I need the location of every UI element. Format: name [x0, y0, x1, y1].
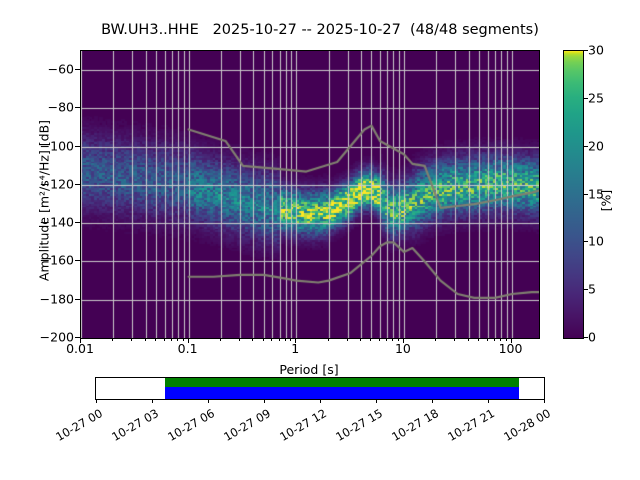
ppsd-figure: BW.UH3..HHE 2025-10-27 -- 2025-10-27 (48… — [0, 0, 640, 480]
figure-title: BW.UH3..HHE 2025-10-27 -- 2025-10-27 (48… — [0, 22, 640, 38]
x-minor-tick-mark — [392, 338, 393, 341]
ppsd-density-canvas — [81, 51, 539, 338]
colorbar-label: [%] — [599, 171, 614, 231]
colorbar-tick-label: 0 — [588, 330, 596, 345]
x-minor-tick-mark — [328, 338, 329, 341]
x-minor-tick-mark — [487, 338, 488, 341]
x-tick-label: 10 — [395, 341, 411, 356]
x-minor-tick-mark — [263, 338, 264, 341]
x-minor-tick-mark — [220, 338, 221, 341]
timeline-tick-label: 10-27 03 — [104, 406, 161, 447]
x-tick-label: 1 — [291, 341, 299, 356]
timeline-tick-mark — [376, 399, 377, 403]
x-minor-tick-mark — [252, 338, 253, 341]
timeline-tick-label: 10-27 00 — [48, 406, 105, 447]
y-tick-mark — [75, 69, 80, 70]
x-minor-tick-mark — [164, 338, 165, 341]
x-minor-tick-mark — [478, 338, 479, 341]
timeline-tick-mark — [208, 399, 209, 403]
x-minor-tick-mark — [290, 338, 291, 341]
ppsd-plot-area[interactable] — [80, 50, 540, 339]
timeline-tick-mark — [96, 399, 97, 403]
colorbar-tick-label: 30 — [588, 43, 604, 58]
x-minor-tick-mark — [500, 338, 501, 341]
colorbar-tick-label: 5 — [588, 282, 596, 297]
data-coverage-timeline[interactable] — [95, 377, 545, 400]
colorbar-tick-label: 25 — [588, 90, 604, 105]
x-minor-tick-mark — [435, 338, 436, 341]
data-coverage-blue[interactable] — [165, 387, 519, 399]
x-minor-tick-mark — [177, 338, 178, 341]
x-tick-label: 0.1 — [178, 341, 198, 356]
x-tick-label: 100 — [499, 341, 523, 356]
timeline-tick-label: 10-27 18 — [384, 406, 441, 447]
data-coverage-green[interactable] — [165, 378, 519, 387]
y-tick-mark — [75, 222, 80, 223]
timeline-tick-label: 10-27 15 — [328, 406, 385, 447]
timeline-tick-label: 10-28 00 — [496, 406, 553, 447]
timeline-tick-mark — [264, 399, 265, 403]
x-minor-tick-mark — [347, 338, 348, 341]
x-axis-label: Period [s] — [80, 362, 538, 377]
timeline-tick-mark — [544, 399, 545, 403]
x-minor-tick-mark — [285, 338, 286, 341]
y-tick-mark — [75, 107, 80, 108]
x-minor-tick-mark — [183, 338, 184, 341]
y-tick-mark — [75, 184, 80, 185]
x-minor-tick-mark — [360, 338, 361, 341]
timeline-tick-label: 10-27 12 — [272, 406, 329, 447]
colorbar[interactable] — [563, 50, 584, 339]
x-minor-tick-mark — [370, 338, 371, 341]
x-minor-tick-mark — [131, 338, 132, 341]
timeline-tick-label: 10-27 06 — [160, 406, 217, 447]
x-minor-tick-mark — [454, 338, 455, 341]
x-tick-label: 0.01 — [66, 341, 94, 356]
x-minor-tick-mark — [386, 338, 387, 341]
x-minor-tick-mark — [506, 338, 507, 341]
timeline-tick-mark — [432, 399, 433, 403]
x-minor-tick-mark — [379, 338, 380, 341]
y-tick-mark — [75, 146, 80, 147]
x-minor-tick-mark — [112, 338, 113, 341]
x-minor-tick-mark — [155, 338, 156, 341]
timeline-tick-mark — [320, 399, 321, 403]
colorbar-tick-label: 20 — [588, 138, 604, 153]
timeline-tick-mark — [152, 399, 153, 403]
colorbar-tick-label: 10 — [588, 234, 604, 249]
x-minor-tick-mark — [239, 338, 240, 341]
timeline-tick-mark — [488, 399, 489, 403]
x-minor-tick-mark — [279, 338, 280, 341]
timeline-tick-label: 10-27 21 — [440, 406, 497, 447]
y-axis-label: Amplitude [m²/s⁴/Hz] [dB] — [37, 56, 52, 346]
x-minor-tick-mark — [468, 338, 469, 341]
x-minor-tick-mark — [171, 338, 172, 341]
timeline-tick-label: 10-27 09 — [216, 406, 273, 447]
x-minor-tick-mark — [494, 338, 495, 341]
x-minor-tick-mark — [398, 338, 399, 341]
y-tick-mark — [75, 260, 80, 261]
x-minor-tick-mark — [145, 338, 146, 341]
x-minor-tick-mark — [271, 338, 272, 341]
y-tick-mark — [75, 299, 80, 300]
